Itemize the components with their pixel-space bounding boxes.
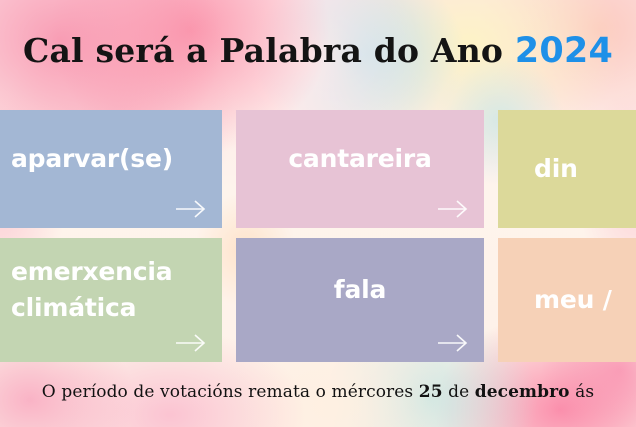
voting-deadline-note: O período de votacións remata o mércores… [0,382,636,402]
deadline-day: 25 [419,382,443,402]
word-card-label: fala [334,272,386,308]
deadline-month: decembro [475,382,570,402]
word-card-fala[interactable]: fala [236,238,484,362]
word-card-label: din [534,151,578,187]
word-card-label: meu / [534,282,612,318]
word-card-emerxencia-climatica[interactable]: emerxencia climática [0,238,222,362]
deadline-text-part1: O período de votacións remata o mércores [42,382,419,402]
arrow-right-icon[interactable] [174,198,208,220]
poster-canvas: Cal será a Palabra do Ano 2024 aparvar(s… [0,0,636,427]
deadline-text-part2: de [443,382,475,402]
word-card-grid: aparvar(se) cantareira din emerxencia cl… [0,110,636,362]
word-card-label: cantareira [288,141,431,177]
word-card-label: aparvar(se) [11,141,173,177]
arrow-right-icon[interactable] [436,198,470,220]
page-title-text: Cal será a Palabra do Ano [23,31,515,70]
word-card-meu[interactable]: meu / [498,238,636,362]
arrow-right-icon[interactable] [174,332,208,354]
deadline-text-part3: ás [570,382,595,402]
word-card-din[interactable]: din [498,110,636,228]
page-title: Cal será a Palabra do Ano 2024 [0,30,636,74]
word-card-label: emerxencia climática [11,254,172,327]
arrow-right-icon[interactable] [436,332,470,354]
word-card-aparvarse[interactable]: aparvar(se) [0,110,222,228]
word-card-cantareira[interactable]: cantareira [236,110,484,228]
page-title-year: 2024 [515,31,613,71]
